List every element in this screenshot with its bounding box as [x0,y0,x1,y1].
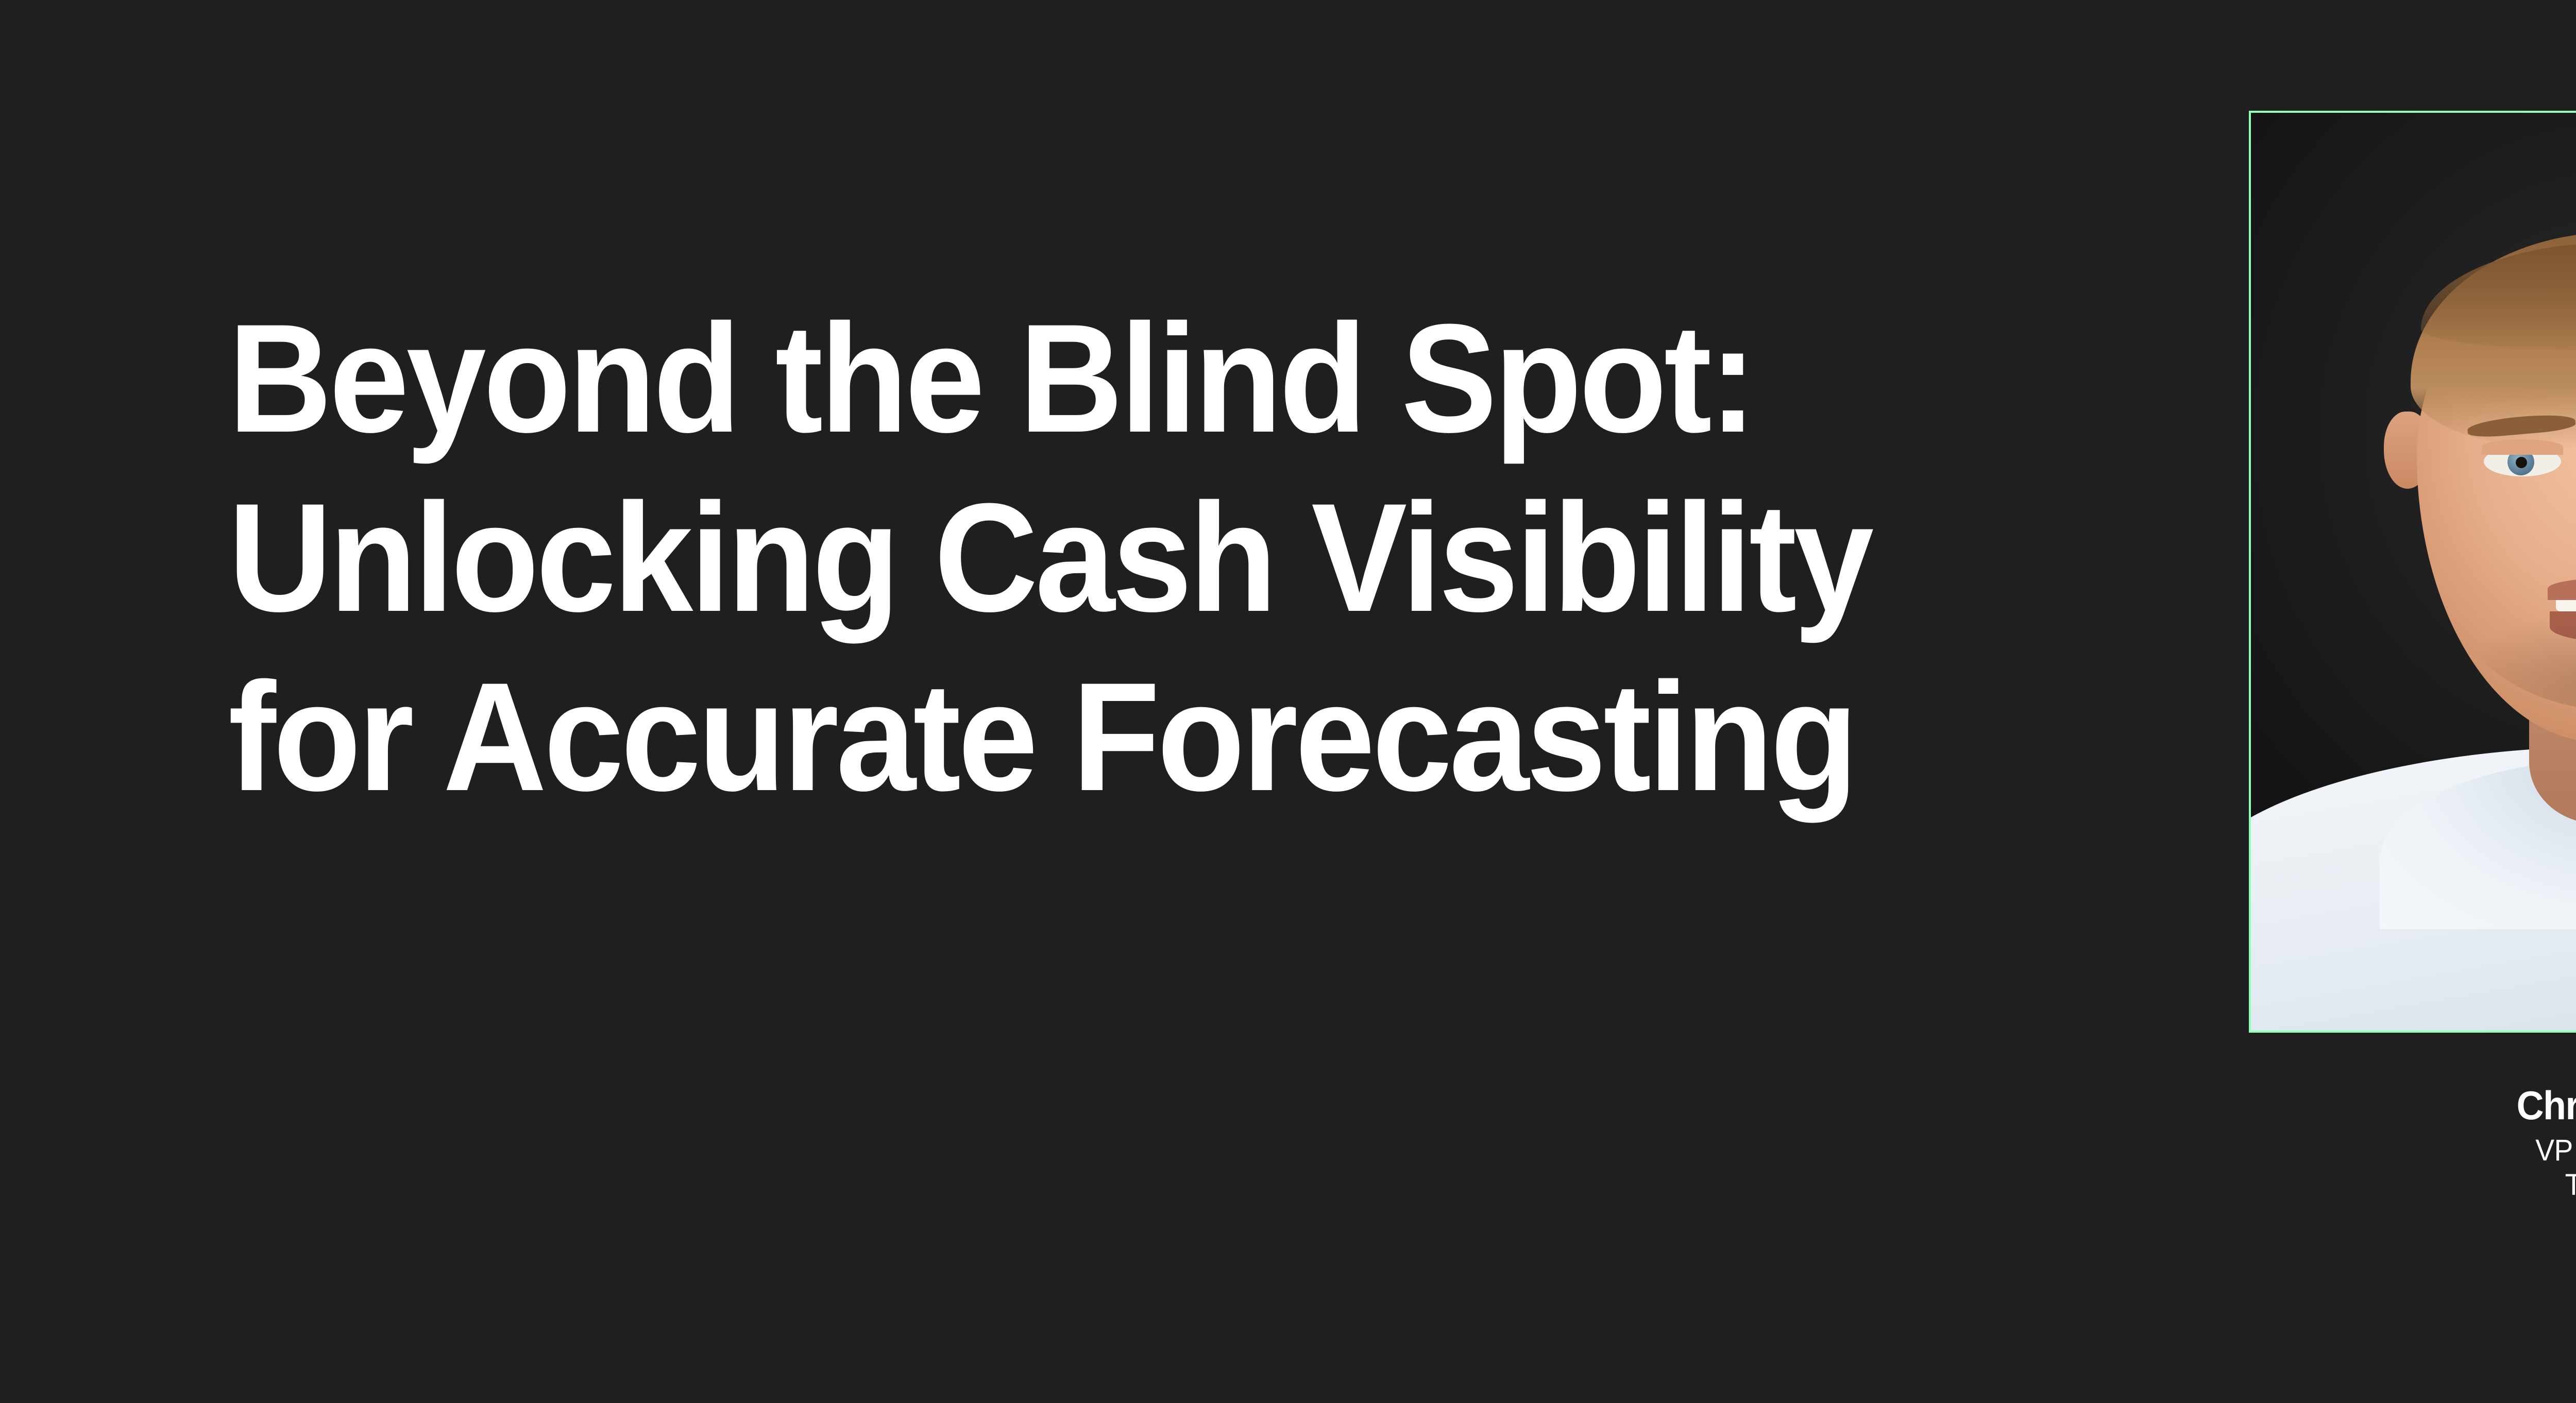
speaker-name-1: Chris Allen [2270,1082,2576,1129]
speaker-org-1: Trovata [2267,1168,2576,1202]
headline-line-1: Beyond the Blind Spot: [228,288,2001,468]
headline-line-2: Unlocking Cash Visibility [228,468,2001,647]
speaker-role-1: VP of Sales, [2267,1133,2576,1168]
speaker-card-1: Chris Allen VP of Sales, Trovata [2249,111,2576,1202]
page-title: Beyond the Blind Spot: Unlocking Cash Vi… [228,288,2001,826]
webinar-banner: Beyond the Blind Spot: Unlocking Cash Vi… [0,0,2576,1403]
speaker-list: Chris Allen VP of Sales, Trovata [2249,111,2576,1202]
speaker-photo-1 [2251,113,2576,1031]
speaker-caption-1: Chris Allen VP of Sales, Trovata [2249,1082,2576,1202]
speaker-photo-frame-1 [2249,111,2576,1033]
headline-line-3: for Accurate Forecasting [228,647,2001,826]
